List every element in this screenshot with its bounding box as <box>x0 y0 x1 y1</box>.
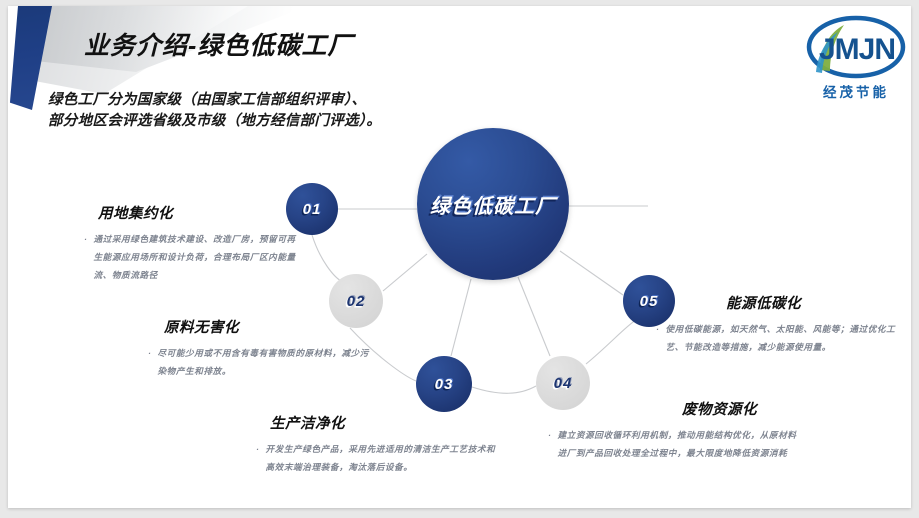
item-05-body: · 使用低碳能源，如天然气、太阳能、风能等；通过优化工艺、节能改造等措施，减少能… <box>656 320 906 356</box>
item-05-bullet: · <box>656 320 659 356</box>
node-03[interactable]: 03 <box>416 356 472 412</box>
node-04-label: 04 <box>554 375 573 392</box>
item-05-text: 使用低碳能源，如天然气、太阳能、风能等；通过优化工艺、节能改造等措施，减少能源使… <box>665 320 906 356</box>
item-04-bullet: · <box>548 426 551 462</box>
arc-04-05 <box>586 320 636 364</box>
node-03-label: 03 <box>435 376 454 393</box>
spoke-center-03 <box>451 279 471 356</box>
item-03-text: 开发生产绿色产品，采用先进适用的清洁生产工艺技术和高效末端治理装备，淘汰落后设备… <box>265 440 501 476</box>
item-02-text: 尽可能少用或不用含有毒有害物质的原材料，减少污染物产生和排放。 <box>157 344 378 380</box>
svg-text:JMJN: JMJN <box>819 33 895 66</box>
item-04-body: · 建立资源回收循环利用机制，推动用能结构优化，从原材料进厂到产品回收处理全过程… <box>548 426 803 462</box>
arc-03-04 <box>472 386 536 393</box>
item-01-bullet: · <box>84 230 87 284</box>
item-block-05: 能源低碳化 · 使用低碳能源，如天然气、太阳能、风能等；通过优化工艺、节能改造等… <box>656 292 906 356</box>
spoke-center-04 <box>518 277 550 356</box>
item-04-text: 建立资源回收循环利用机制，推动用能结构优化，从原材料进厂到产品回收处理全过程中，… <box>557 426 803 462</box>
company-logo: JMJN 经茂节能 <box>797 14 911 118</box>
item-block-03: 生产洁净化 · 开发生产绿色产品，采用先进适用的清洁生产工艺技术和高效末端治理装… <box>256 412 501 476</box>
item-05-heading: 能源低碳化 <box>726 292 906 313</box>
item-01-body: · 通过采用绿色建筑技术建设、改造厂房，预留可再生能源应用场所和设计负荷，合理布… <box>84 230 299 284</box>
slide-page: 业务介绍-绿色低碳工厂 绿色工厂分为国家级（由国家工信部组织评审）、 部分地区会… <box>8 6 911 508</box>
item-01-heading: 用地集约化 <box>98 202 299 223</box>
item-block-02: 原料无害化 · 尽可能少用或不用含有毒有害物质的原材料，减少污染物产生和排放。 <box>148 316 378 380</box>
item-04-heading: 废物资源化 <box>548 398 757 419</box>
arc-01-02 <box>312 235 343 282</box>
subtitle-line-1: 绿色工厂分为国家级（由国家工信部组织评审）、 <box>48 90 381 111</box>
node-01-label: 01 <box>303 201 322 218</box>
item-02-heading: 原料无害化 <box>164 316 378 337</box>
page-title: 业务介绍-绿色低碳工厂 <box>84 26 353 62</box>
item-02-body: · 尽可能少用或不用含有毒有害物质的原材料，减少污染物产生和排放。 <box>148 344 378 380</box>
slide-canvas: 业务介绍-绿色低碳工厂 绿色工厂分为国家级（由国家工信部组织评审）、 部分地区会… <box>0 0 919 518</box>
item-03-body: · 开发生产绿色产品，采用先进适用的清洁生产工艺技术和高效末端治理装备，淘汰落后… <box>256 440 501 476</box>
center-node-label: 绿色低碳工厂 <box>430 190 556 219</box>
spoke-center-02 <box>383 254 427 291</box>
center-node[interactable]: 绿色低碳工厂 <box>417 128 569 280</box>
item-03-bullet: · <box>256 440 259 476</box>
subtitle-line-2: 部分地区会评选省级及市级（地方经信部门评选）。 <box>48 111 381 132</box>
item-block-01: 用地集约化 · 通过采用绿色建筑技术建设、改造厂房，预留可再生能源应用场所和设计… <box>84 202 299 284</box>
logo-company-name: 经茂节能 <box>797 81 911 101</box>
item-02-bullet: · <box>148 344 151 380</box>
node-02-label: 02 <box>347 293 366 310</box>
page-subtitle: 绿色工厂分为国家级（由国家工信部组织评审）、 部分地区会评选省级及市级（地方经信… <box>48 90 381 132</box>
logo-mark-icon: JMJN <box>804 14 908 80</box>
spoke-center-05 <box>560 251 623 295</box>
item-03-heading: 生产洁净化 <box>270 412 501 433</box>
item-01-text: 通过采用绿色建筑技术建设、改造厂房，预留可再生能源应用场所和设计负荷，合理布局厂… <box>93 230 299 284</box>
item-block-04: 废物资源化 · 建立资源回收循环利用机制，推动用能结构优化，从原材料进厂到产品回… <box>548 398 803 462</box>
